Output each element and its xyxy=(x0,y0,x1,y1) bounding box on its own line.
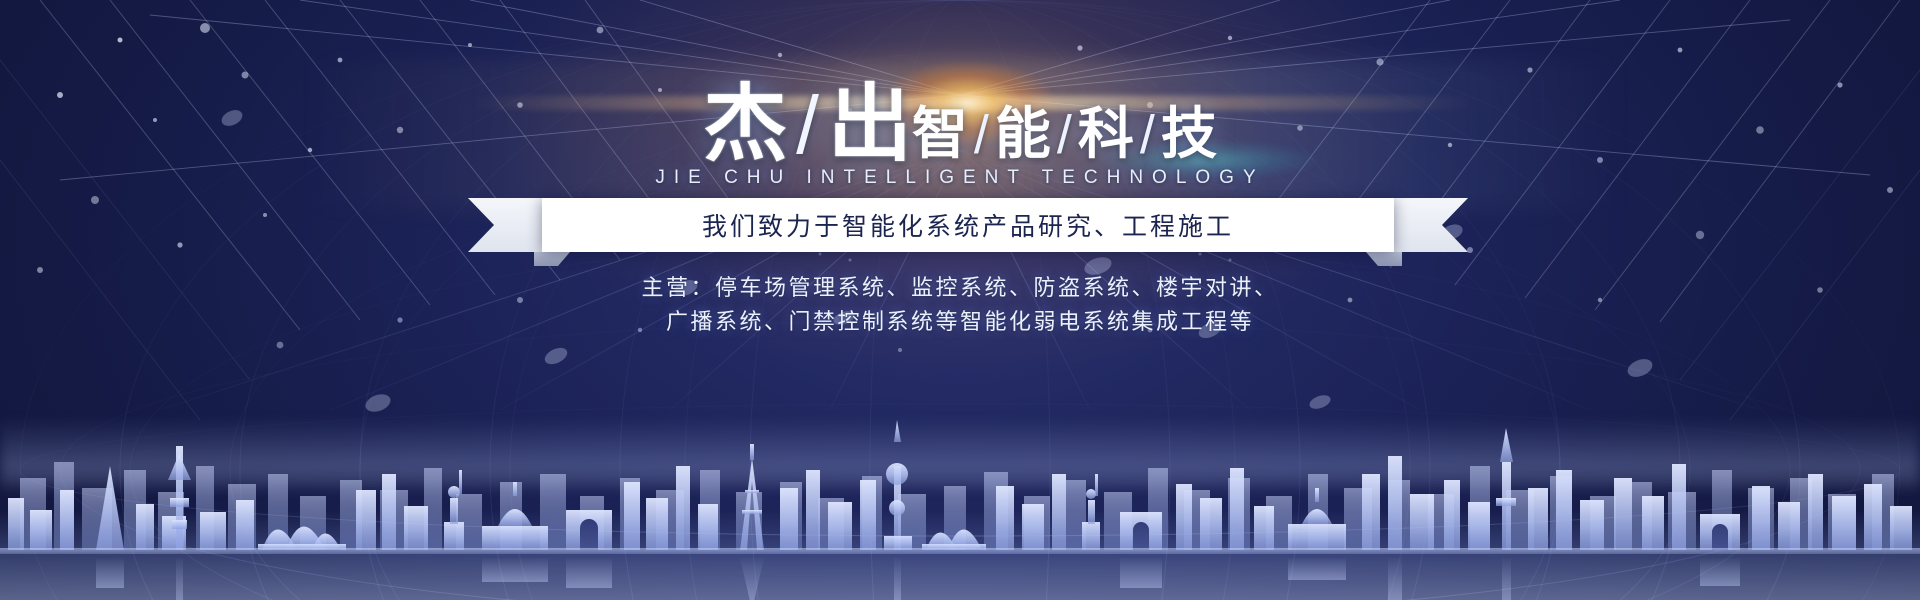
title-char-ke: 科 xyxy=(1078,107,1134,163)
slogan-ribbon: 我们致力于智能化系统产品研究、工程施工 xyxy=(468,198,1468,252)
title-char-ji: 技 xyxy=(1161,107,1217,163)
title-slash-2: / xyxy=(968,108,995,162)
brand-title: 杰 / 出 智 / 能 / 科 / 技 xyxy=(0,82,1920,167)
title-slash-4: / xyxy=(1134,108,1161,162)
title-char-neng: 能 xyxy=(995,107,1051,163)
title-slash-1: / xyxy=(787,85,828,167)
title-char-jie: 杰 xyxy=(703,82,787,166)
ribbon-text: 我们致力于智能化系统产品研究、工程施工 xyxy=(702,207,1234,243)
description-line-2: 广播系统、门禁控制系统等智能化弱电系统集成工程等 xyxy=(0,306,1920,340)
services-description: 主营：停车场管理系统、监控系统、防盗系统、楼宇对讲、 广播系统、门禁控制系统等智… xyxy=(0,272,1920,340)
title-slash-3: / xyxy=(1051,108,1078,162)
ribbon-body: 我们致力于智能化系统产品研究、工程施工 xyxy=(542,198,1394,252)
english-subtitle: JIE CHU INTELLIGENT TECHNOLOGY xyxy=(0,167,1920,189)
hero-banner: 杰 / 出 智 / 能 / 科 / 技 JIE CHU INTELLIGENT … xyxy=(0,0,1920,600)
description-line-1: 主营：停车场管理系统、监控系统、防盗系统、楼宇对讲、 xyxy=(0,272,1920,306)
title-char-zhi: 智 xyxy=(912,107,968,163)
title-char-chu: 出 xyxy=(828,82,912,166)
